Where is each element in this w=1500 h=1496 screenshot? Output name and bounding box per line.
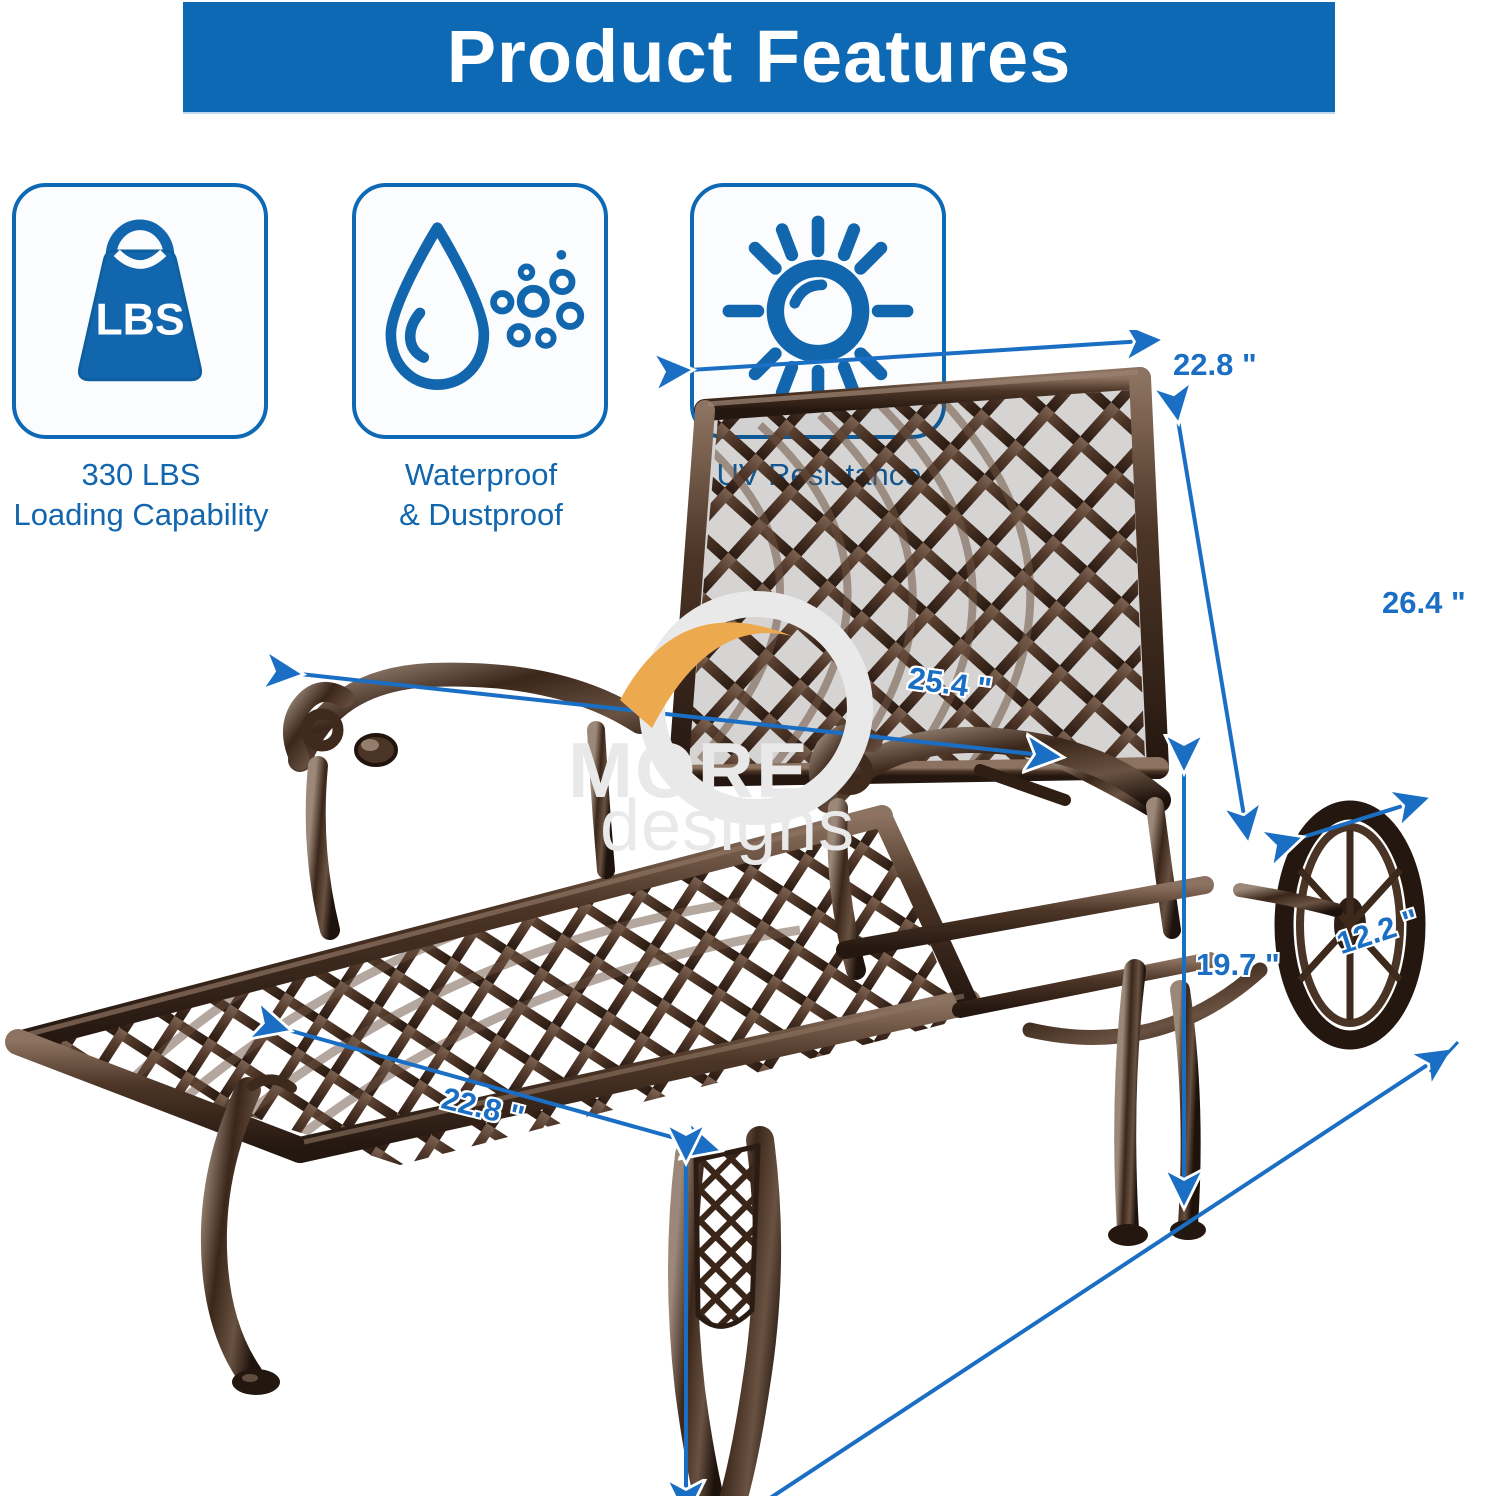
product-image-with-dimensions: 22.8 " 26.4 " 25.4 " 12.2 " 19.7 " 22.8 … bbox=[0, 330, 1500, 1496]
dim-label-backrest-width: 22.8 " bbox=[1173, 347, 1257, 383]
dim-line-backrest-width bbox=[690, 340, 1160, 370]
dim-label-seat-height: 19.7 " bbox=[1196, 947, 1280, 983]
seat-mesh bbox=[0, 790, 1000, 1210]
product-features-infographic: Product Features LBS 330 LBS Loading Cap… bbox=[0, 0, 1500, 1496]
front-decorative-leg bbox=[683, 1140, 767, 1496]
rear-leg bbox=[1108, 970, 1206, 1246]
dim-label-backrest-height: 26.4 " bbox=[1382, 585, 1466, 621]
chaise-lounge-illustration bbox=[0, 330, 1500, 1496]
page-title: Product Features bbox=[447, 20, 1072, 94]
dim-line-backrest-height bbox=[1178, 420, 1248, 840]
header-banner: Product Features bbox=[183, 2, 1335, 112]
dim-line-overall-length bbox=[752, 1050, 1450, 1496]
dim-ext-length-right bbox=[1430, 1042, 1458, 1072]
